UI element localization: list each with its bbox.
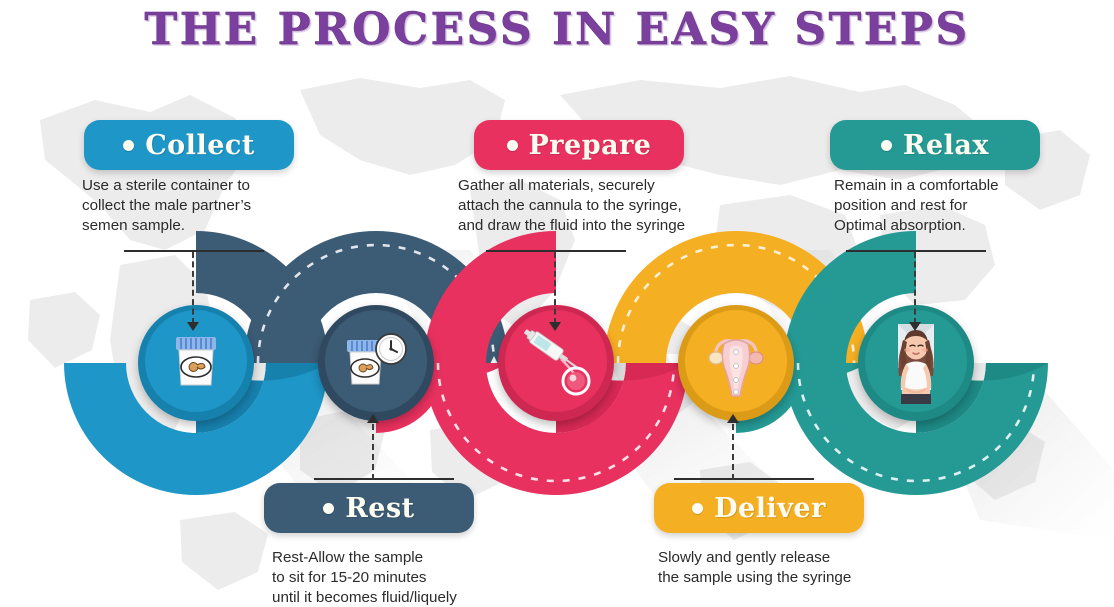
page-title: THE PROCESS IN EASY STEPS [0,4,1114,55]
pill-prepare-label: Prepare [529,132,652,159]
pill-deliver-bullet-icon [692,503,703,514]
connector-prepare-vdash [554,252,556,324]
pill-relax[interactable]: Relax [830,120,1040,170]
pill-rest-bullet-icon [323,503,334,514]
connector-collect-vdash [192,252,194,324]
uterus-icon [694,322,778,400]
infographic-canvas: THE PROCESS IN EASY STEPS Collect Use a … [0,0,1114,607]
desc-prepare: Gather all materials, securely attach th… [458,176,773,237]
connector-deliver-hbar [674,478,814,480]
pill-deliver[interactable]: Deliver [654,483,864,533]
connector-deliver-vdash [732,424,734,480]
connector-rest-hbar [314,478,454,480]
connector-prepare-arrow-icon [549,322,561,331]
connector-collect [124,250,304,350]
node-deliver-inner [685,310,787,412]
connector-rest-arrow-icon [367,414,379,423]
desc-collect: Use a sterile container to collect the m… [82,176,327,237]
pill-relax-bullet-icon [881,140,892,151]
specimen-cup-clock-icon [341,330,411,392]
pill-collect-label: Collect [145,132,255,159]
pill-prepare-bullet-icon [507,140,518,151]
pill-collect-bullet-icon [123,140,134,151]
pill-prepare[interactable]: Prepare [474,120,684,170]
pill-rest-label: Rest [345,495,414,522]
connector-deliver-arrow-icon [727,414,739,423]
desc-relax: Remain in a comfortable position and res… [834,176,1084,237]
connector-collect-arrow-icon [187,322,199,331]
connector-relax-vdash [914,252,916,324]
connector-prepare-hbar [486,250,626,252]
connector-collect-hbar [124,250,264,252]
pill-collect[interactable]: Collect [84,120,294,170]
pill-relax-label: Relax [903,132,989,159]
connector-prepare [486,250,666,350]
node-rest[interactable] [318,305,434,421]
pill-deliver-label: Deliver [714,495,826,522]
connector-relax [846,250,1026,350]
connector-relax-arrow-icon [909,322,921,331]
node-deliver[interactable] [678,305,794,421]
pill-rest[interactable]: Rest [264,483,474,533]
desc-rest: Rest-Allow the sample to sit for 15-20 m… [272,548,562,607]
connector-rest-vdash [372,424,374,480]
desc-deliver: Slowly and gently release the sample usi… [658,548,948,588]
node-rest-inner [325,310,427,412]
connector-relax-hbar [846,250,986,252]
